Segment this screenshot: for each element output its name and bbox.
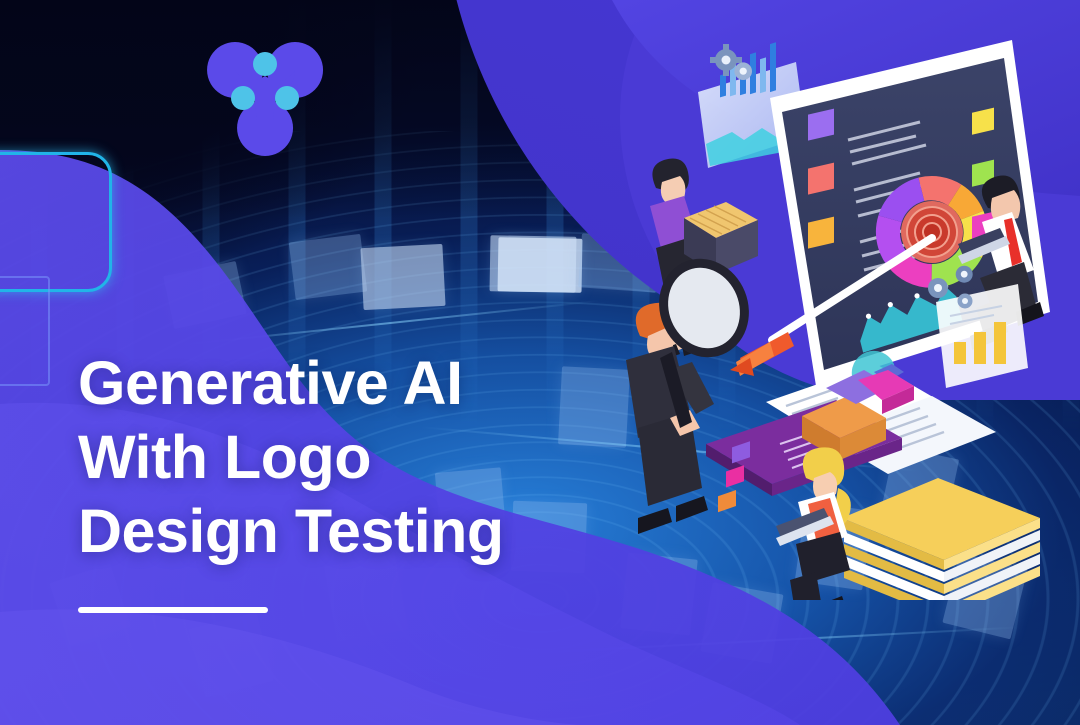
- gear-icon: [956, 266, 973, 283]
- woman-on-folder-stack: [776, 447, 1040, 600]
- floating-chart-panel-right: [936, 284, 1028, 388]
- headline-line-2: With Logo: [78, 420, 638, 494]
- gear-icon: [734, 62, 752, 80]
- folder-stack: [842, 478, 1040, 600]
- cyan-accent-frame: [0, 152, 112, 292]
- secondary-accent-frame: [0, 276, 50, 386]
- man-with-magnifying-glass: [626, 245, 764, 534]
- tri-lobe-molecule-logo[interactable]: [205, 28, 325, 156]
- banner-canvas: Generative AI With Logo Design Testing: [0, 0, 1080, 725]
- gear-icon: [958, 294, 973, 309]
- tablet-tile: [718, 490, 736, 512]
- headline-line-1: Generative AI: [78, 346, 638, 420]
- headline-line-3: Design Testing: [78, 494, 638, 568]
- isometric-data-analytics-scene: [620, 40, 1080, 600]
- headline-underline-rule: [78, 607, 268, 613]
- gear-icon: [928, 278, 948, 298]
- page-title: Generative AI With Logo Design Testing: [78, 346, 638, 568]
